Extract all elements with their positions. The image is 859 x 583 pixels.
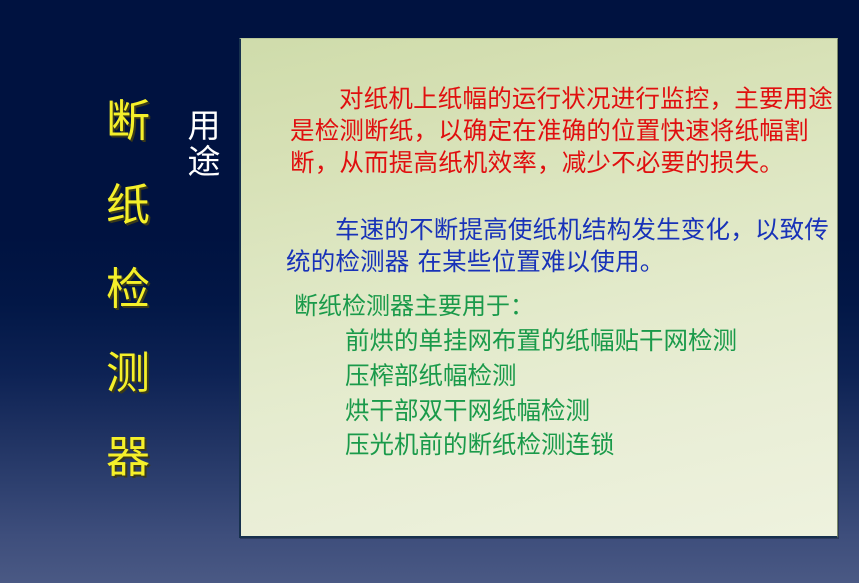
list-item: 压榨部纸幅检测 (345, 359, 835, 394)
application-list: 前烘的单挂网布置的纸幅贴干网检测 压榨部纸幅检测 烘干部双干网纸幅检测 压光机前… (345, 324, 835, 463)
list-item: 压光机前的断纸检测连锁 (345, 428, 835, 463)
list-heading: 断纸检测器主要用于： (294, 291, 834, 322)
vertical-title-char-3: 检 (106, 268, 150, 312)
vertical-title-char-4: 测 (106, 352, 150, 396)
vertical-title-char-1: 断 (106, 100, 150, 144)
slide-canvas: 断 纸 检 测 器 用途 对纸机上纸幅的运行状况进行监控，主要用途是检测断纸，以… (0, 0, 859, 583)
red-paragraph: 对纸机上纸幅的运行状况进行监控，主要用途是检测断纸，以确定在准确的位置快速将纸幅… (290, 83, 838, 179)
list-item: 烘干部双干网纸幅检测 (345, 394, 835, 429)
list-item: 前烘的单挂网布置的纸幅贴干网检测 (345, 324, 835, 359)
vertical-title-char-5: 器 (106, 436, 150, 480)
vertical-slide-title: 断 纸 检 测 器 (92, 100, 164, 480)
content-panel: 对纸机上纸幅的运行状况进行监控，主要用途是检测断纸，以确定在准确的位置快速将纸幅… (239, 38, 838, 538)
purpose-label: 用途 (178, 108, 230, 179)
blue-paragraph: 车速的不断提高使纸机结构发生变化，以致传统的检测器 在某些位置难以使用。 (286, 214, 838, 278)
vertical-title-char-2: 纸 (106, 184, 150, 228)
